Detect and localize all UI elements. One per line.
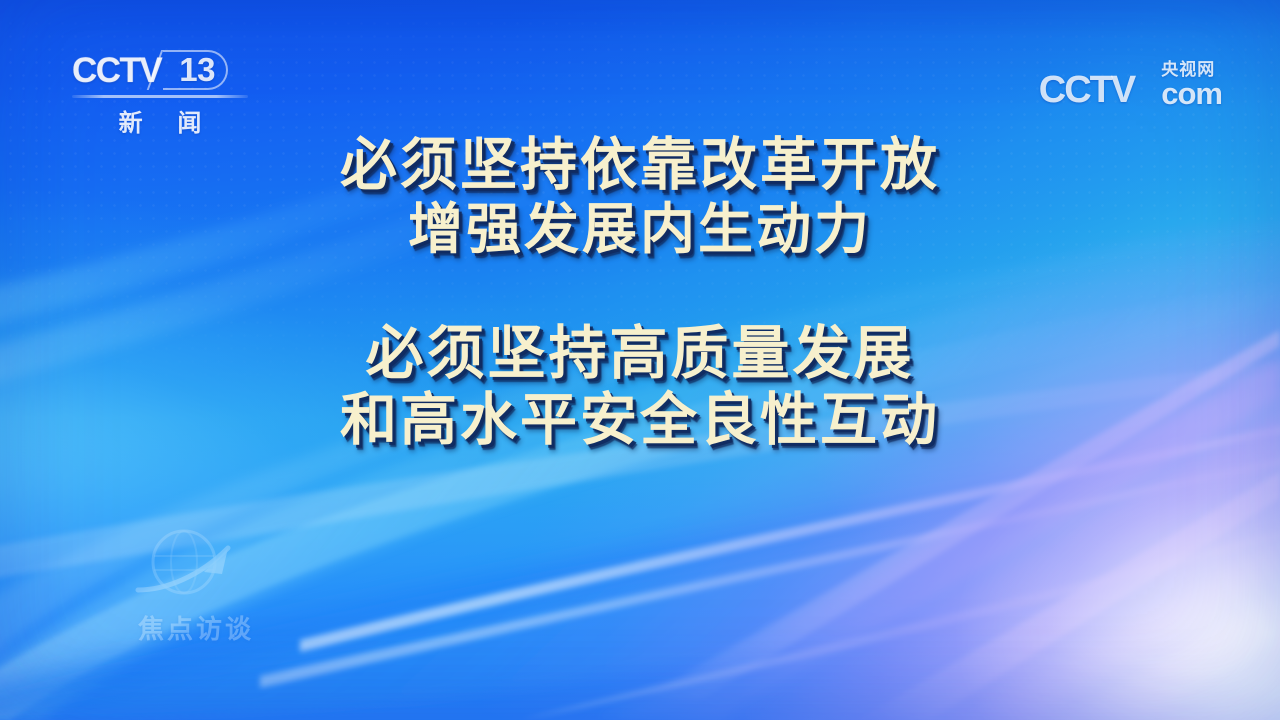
channel-bug-row: CCTV 13: [72, 48, 262, 92]
headline-block-2: 必须坚持高质量发展 和高水平安全良性互动: [0, 320, 1280, 453]
headline-block-1: 必须坚持依靠改革开放 增强发展内生动力: [0, 132, 1280, 262]
headline-line-1-1: 必须坚持依靠改革开放: [0, 132, 1280, 198]
headline-line-2-1: 必须坚持高质量发展: [0, 320, 1280, 387]
program-watermark-name: 焦点访谈: [108, 609, 284, 646]
headline-container: 必须坚持依靠改革开放 增强发展内生动力 必须坚持高质量发展 和高水平安全良性互动: [0, 132, 1280, 453]
network-logo-text-stack: 央视网 com: [1161, 61, 1222, 108]
network-logo-brand: CCTV: [1039, 72, 1136, 108]
channel-bug-cctv13: CCTV 13 新 闻: [72, 48, 262, 134]
headline-line-1-2: 增强发展内生动力: [0, 198, 1280, 262]
program-watermark: 焦点访谈: [108, 528, 284, 652]
channel-bug-number-badge: 13: [163, 50, 228, 90]
globe-swoosh-icon: [132, 528, 236, 602]
network-logo-cctvcom: CCTV 央视网 com: [1039, 52, 1222, 108]
channel-bug-underline-icon: [72, 95, 248, 98]
broadcast-frame: CCTV 13 新 闻 CCTV 央视网 com 必须坚持依靠改革开放 增强发展…: [0, 0, 1280, 720]
headline-line-2-2: 和高水平安全良性互动: [0, 387, 1280, 453]
channel-bug-number: 13: [179, 51, 215, 88]
network-logo-domain: com: [1161, 80, 1222, 108]
channel-bug-brand: CCTV: [72, 53, 161, 88]
